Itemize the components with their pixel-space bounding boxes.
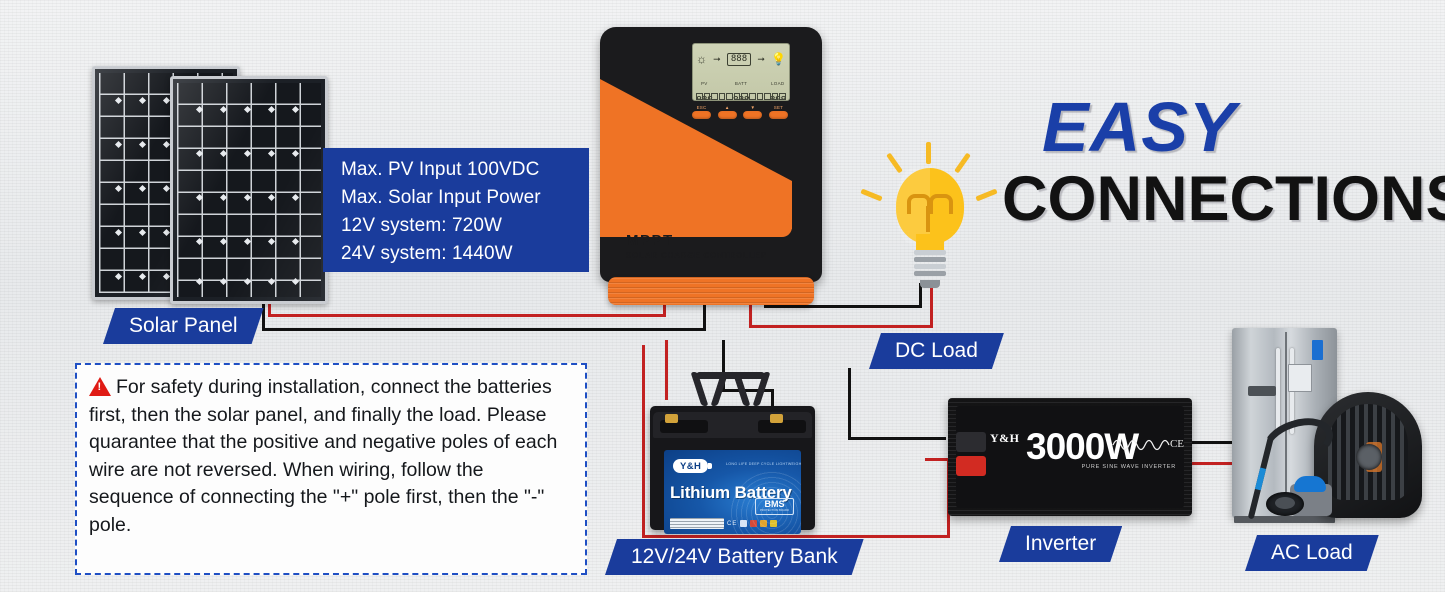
set-button-label: SET [769, 105, 788, 110]
spec-line-2: Max. Solar Input Power [341, 184, 589, 212]
battery-brand-logo: Y&H [673, 459, 708, 473]
bulb-ray-icon [860, 189, 882, 202]
battery-case: Y&H LONG LIFE DEEP CYCLE LIGHTWEIGHT Lit… [650, 406, 815, 530]
vacuum-lid [1294, 476, 1326, 492]
safety-warning-text: For safety during installation, connect … [89, 376, 557, 536]
negative-wire [764, 305, 922, 308]
positive-wire [642, 535, 950, 538]
ac-load-appliances [1232, 328, 1437, 528]
up-button[interactable]: ▲ [718, 105, 737, 119]
spec-line-3: 12V system: 720W [341, 212, 589, 240]
fridge-handle-left [1276, 348, 1280, 434]
battery-spec-text: LONG LIFE DEEP CYCLE LIGHTWEIGHT [726, 462, 801, 466]
fan-hub [1356, 444, 1382, 470]
label-battery-bank: 12V/24V Battery Bank [605, 539, 864, 575]
vacuum-floor-head [1266, 492, 1304, 516]
battery-label: Y&H LONG LIFE DEEP CYCLE LIGHTWEIGHT Lit… [664, 450, 801, 534]
battery-positive-terminal [665, 414, 678, 423]
battery-barcode-label [670, 518, 724, 529]
inverter-body: Y&H 3000W CE PURE SINE WAVE INVERTER [948, 398, 1192, 516]
bms-badge: BMS PROTECTION BOARD [755, 498, 794, 515]
warning-icon [770, 520, 777, 527]
inverter-negative-terminal [956, 432, 986, 452]
up-button-label: ▲ [718, 105, 737, 110]
label-solar-panel: Solar Panel [103, 308, 264, 344]
lcd-battery-level: 888 [727, 53, 751, 66]
battery-handle [696, 372, 766, 406]
solar-panel-icon: ☼ [696, 53, 707, 65]
vacuum-cleaner [1266, 474, 1332, 518]
down-button-label: ▼ [743, 105, 762, 110]
bms-badge-text: BMS [760, 500, 789, 509]
sine-wave-icon [1112, 436, 1170, 454]
controller-accent-panel [600, 79, 792, 229]
flow-arrow-icon: ➞ [713, 54, 721, 65]
battery-certification-row: CE [670, 518, 795, 529]
label-dc-load: DC Load [869, 333, 1004, 369]
esc-button-key[interactable] [692, 111, 711, 119]
set-button[interactable]: SET [769, 105, 788, 119]
bulb-ray-icon [954, 153, 971, 174]
power-inverter: Y&H 3000W CE PURE SINE WAVE INVERTER [922, 398, 1192, 516]
lcd-display: ☼ ➞ 888 ➞ 💡 PV 888 BATT 888 [692, 43, 790, 101]
ce-mark-icon: CE [727, 521, 737, 527]
lcd-status-row: ☼ ➞ 888 ➞ 💡 [696, 46, 786, 72]
bulb-ray-icon [886, 153, 903, 174]
bulb-ray-icon [926, 142, 931, 164]
recycle-icon [740, 520, 747, 527]
inverter-positive-terminal [956, 456, 986, 476]
positive-wire [268, 314, 666, 317]
pv-input-spec-box: Max. PV Input 100VDC Max. Solar Input Po… [323, 148, 589, 272]
mppt-charge-controller[interactable]: ☼ ➞ 888 ➞ 💡 PV 888 BATT 888 [600, 27, 822, 282]
controller-brand-subtitle: SOLAR CHARGE CONTROLLER [626, 251, 767, 260]
esc-button[interactable]: ESC [692, 105, 711, 119]
lcd-segment-bar [696, 93, 786, 99]
fridge-energy-badge [1312, 340, 1323, 360]
battery-negative-terminal [770, 414, 783, 423]
inverter-dc-terminals [956, 432, 986, 480]
bulb-icon: 💡 [771, 53, 786, 65]
fridge-control-panel [1288, 364, 1312, 392]
headline-connections: CONNECTIONS [1002, 168, 1445, 231]
warning-triangle-icon [89, 377, 111, 396]
esc-button-label: ESC [692, 105, 711, 110]
caution-icon [760, 520, 767, 527]
controller-terminal-cover [608, 277, 814, 305]
down-button[interactable]: ▼ [743, 105, 762, 119]
panel-glare [173, 79, 325, 301]
ce-mark-icon: CE [1170, 438, 1184, 450]
up-button-key[interactable] [718, 111, 737, 119]
negative-wire [262, 328, 706, 331]
negative-wire [848, 368, 851, 440]
lcd-pv-label: PV [701, 81, 708, 86]
controller-branding: MPPT SOLAR CHARGE CONTROLLER [626, 233, 767, 260]
bms-badge-subtext: PROTECTION BOARD [760, 509, 789, 512]
label-ac-load: AC Load [1245, 535, 1379, 571]
bulb-screw-base [914, 250, 946, 282]
inverter-subtitle: PURE SINE WAVE INVERTER [1082, 464, 1176, 470]
solar-panel-front [170, 76, 328, 304]
inverter-brand-logo: Y&H [990, 431, 1020, 446]
fridge-vent [1248, 386, 1276, 396]
bulb-filament-icon [907, 194, 953, 234]
down-button-key[interactable] [743, 111, 762, 119]
battery-title: Lithium Battery [670, 483, 792, 503]
positive-wire [749, 325, 933, 328]
bulb-contact-tip [920, 280, 940, 288]
headline-easy: EASY [1042, 92, 1237, 162]
lcd-batt-label: BATT [735, 81, 747, 86]
light-bulb-dc-load [866, 142, 994, 304]
controller-body: ☼ ➞ 888 ➞ 💡 PV 888 BATT 888 [600, 27, 822, 282]
controller-keypad[interactable]: ESC ▲ ▼ SET [692, 105, 788, 119]
set-button-key[interactable] [769, 111, 788, 119]
bulb-ray-icon [975, 189, 997, 202]
spec-line-4: 24V system: 1440W [341, 240, 589, 268]
spec-line-1: Max. PV Input 100VDC [341, 156, 589, 184]
lcd-load-label: LOAD [771, 81, 784, 86]
positive-wire [642, 345, 645, 538]
controller-brand-mppt: MPPT [626, 233, 767, 248]
diagram-canvas: ☼ ➞ 888 ➞ 💡 PV 888 BATT 888 [0, 0, 1445, 592]
label-inverter: Inverter [999, 526, 1122, 562]
hazard-icon [750, 520, 757, 527]
flow-arrow-icon: ➞ [757, 54, 765, 65]
lithium-battery: Y&H LONG LIFE DEEP CYCLE LIGHTWEIGHT Lit… [650, 390, 815, 530]
safety-warning-box: For safety during installation, connect … [75, 363, 587, 575]
safety-warning-text-wrapper: For safety during installation, connect … [89, 374, 573, 539]
